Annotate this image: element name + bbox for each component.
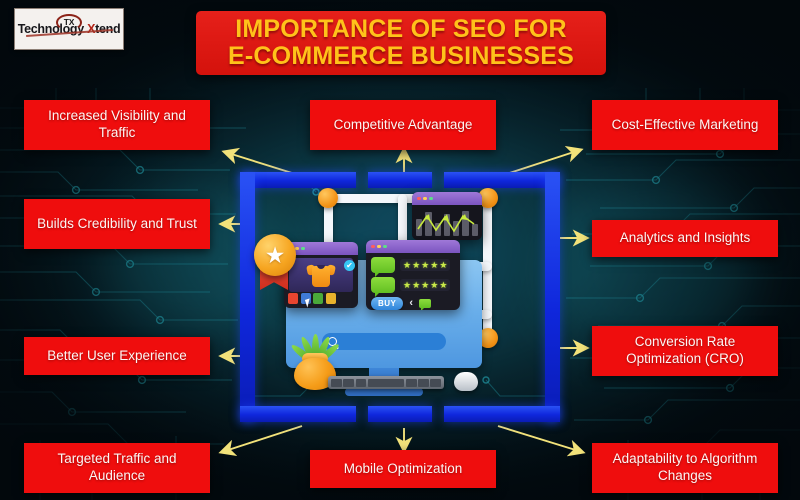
window-dot-red-icon bbox=[417, 197, 421, 201]
star-icon: ★ bbox=[430, 261, 438, 270]
benefit-box-better-user-experience[interactable]: Better User Experience bbox=[24, 337, 210, 375]
brand-logo[interactable]: TX Technology Xtend bbox=[14, 8, 124, 50]
frame-segment-bottom-middle bbox=[368, 406, 432, 422]
node-knob-top-left bbox=[318, 188, 338, 208]
chat-bubble-icon bbox=[371, 277, 395, 293]
review-row: ★★★★★ bbox=[371, 277, 455, 293]
title-line-2: E-COMMERCE BUSINESSES bbox=[228, 43, 574, 70]
star-icon: ★ bbox=[403, 281, 411, 290]
window-dot-red-icon bbox=[371, 245, 375, 249]
chart-trend-line bbox=[416, 209, 478, 236]
benefit-label: Analytics and Insights bbox=[620, 230, 751, 247]
benefit-box-increased-visibility-and-traffic[interactable]: Increased Visibility and Traffic bbox=[24, 100, 210, 150]
frame-segment-bottom-left bbox=[240, 406, 356, 422]
star-icon: ★ bbox=[430, 281, 438, 290]
benefit-label: Increased Visibility and Traffic bbox=[32, 108, 202, 142]
star-icon: ★ bbox=[412, 281, 420, 290]
benefit-label: Competitive Advantage bbox=[334, 117, 473, 134]
window-dot-yellow-icon bbox=[423, 197, 427, 201]
benefit-label: Conversion Rate Optimization (CRO) bbox=[600, 334, 770, 368]
comment-icon[interactable] bbox=[419, 299, 431, 308]
reviews-list: ★★★★★ ★★★★★ BUY ‹ bbox=[366, 253, 460, 310]
award-medal: ★ bbox=[252, 234, 298, 296]
benefit-box-analytics-and-insights[interactable]: Analytics and Insights bbox=[592, 220, 778, 257]
star-icon: ★ bbox=[421, 281, 429, 290]
star-icon: ★ bbox=[439, 261, 447, 270]
benefit-box-mobile-optimization[interactable]: Mobile Optimization bbox=[310, 450, 496, 488]
window-dot-yellow-icon bbox=[377, 245, 381, 249]
ecommerce-illustration: ✔ ★★★★★ ★★★★★ BUY ‹ bbox=[262, 186, 538, 408]
reviews-actions: BUY ‹ bbox=[371, 297, 455, 310]
window-dot-green-icon bbox=[383, 245, 387, 249]
star-rating: ★★★★★ bbox=[400, 259, 450, 271]
tx-badge-icon: TX bbox=[56, 14, 82, 31]
tshirt-icon bbox=[308, 263, 334, 287]
computer-mouse[interactable] bbox=[454, 372, 478, 391]
benefit-label: Better User Experience bbox=[47, 348, 187, 365]
benefit-label: Targeted Traffic and Audience bbox=[32, 451, 202, 485]
benefit-label: Builds Credibility and Trust bbox=[37, 216, 197, 233]
tx-badge-label: TX bbox=[64, 18, 74, 27]
frame-segment-left bbox=[240, 172, 255, 422]
benefit-label: Mobile Optimization bbox=[344, 461, 463, 478]
analytics-chart-card bbox=[412, 192, 482, 240]
benefit-box-conversion-rate-optimization-cro[interactable]: Conversion Rate Optimization (CRO) bbox=[592, 326, 778, 376]
color-swatch[interactable] bbox=[313, 293, 323, 304]
buy-button[interactable]: BUY bbox=[371, 297, 403, 310]
benefit-box-competitive-advantage[interactable]: Competitive Advantage bbox=[310, 100, 496, 150]
star-icon: ★ bbox=[439, 281, 447, 290]
brand-name-accent: X bbox=[87, 22, 95, 36]
infographic-canvas: TX Technology Xtend IMPORTANCE OF SEO FO… bbox=[0, 0, 800, 500]
reviews-card: ★★★★★ ★★★★★ BUY ‹ bbox=[366, 240, 460, 310]
verified-check-icon: ✔ bbox=[344, 260, 355, 271]
star-icon: ★ bbox=[412, 261, 420, 270]
chart-plot-area bbox=[412, 205, 482, 240]
star-icon: ★ bbox=[265, 244, 286, 267]
chat-bubble-icon bbox=[371, 257, 395, 273]
frame-segment-bottom-right bbox=[444, 406, 560, 422]
review-row: ★★★★★ bbox=[371, 257, 455, 273]
benefit-box-targeted-traffic-and-audience[interactable]: Targeted Traffic and Audience bbox=[24, 443, 210, 493]
star-icon: ★ bbox=[421, 261, 429, 270]
reviews-card-titlebar bbox=[366, 240, 460, 253]
star-icon: ★ bbox=[403, 261, 411, 270]
medal-coin: ★ bbox=[254, 234, 296, 276]
chart-card-titlebar bbox=[412, 192, 482, 205]
monitor-stand-base bbox=[345, 388, 423, 396]
share-icon[interactable]: ‹ bbox=[409, 298, 413, 309]
keyboard[interactable] bbox=[328, 376, 444, 389]
title-line-1: IMPORTANCE OF SEO FOR bbox=[235, 16, 567, 43]
page-title: IMPORTANCE OF SEO FOR E-COMMERCE BUSINES… bbox=[196, 11, 606, 75]
window-dot-green-icon bbox=[301, 247, 305, 251]
benefit-box-cost-effective-marketing[interactable]: Cost-Effective Marketing bbox=[592, 100, 778, 150]
benefit-box-builds-credibility-and-trust[interactable]: Builds Credibility and Trust bbox=[24, 199, 210, 249]
benefit-label: Adaptability to Algorithm Changes bbox=[600, 451, 770, 485]
color-swatch[interactable] bbox=[326, 293, 336, 304]
star-rating: ★★★★★ bbox=[400, 279, 450, 291]
benefit-label: Cost-Effective Marketing bbox=[612, 117, 759, 134]
benefit-box-adaptability-to-algorithm-changes[interactable]: Adaptability to Algorithm Changes bbox=[592, 443, 778, 493]
frame-segment-right bbox=[545, 172, 560, 422]
window-dot-green-icon bbox=[429, 197, 433, 201]
